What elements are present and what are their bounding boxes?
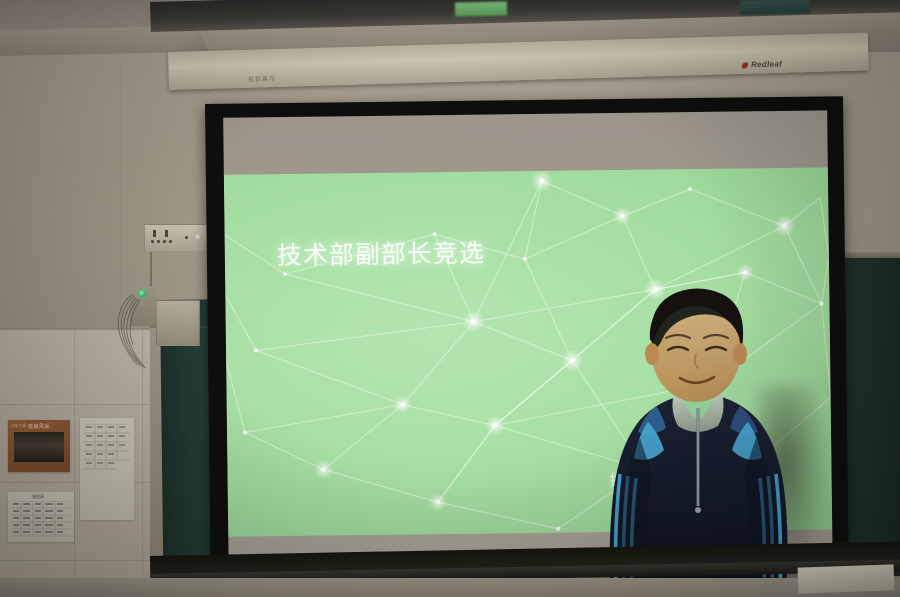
leaf-icon [742,62,748,68]
poster-photo-image [14,432,64,462]
poster-corner-label: 二年三班 [10,423,26,429]
switch-button[interactable] [165,230,168,237]
slide-title: 技术部副部长竞选 [277,234,485,273]
housing-label: 投影幕布 [248,74,276,84]
classroom-scene: 投影幕布 Redleaf [0,0,900,597]
switch-knob[interactable] [195,234,202,241]
wall-seam [142,330,143,597]
poster-title: 课程表 [32,494,44,500]
floor-strip [0,578,900,597]
switch-socket-dot [157,240,160,243]
screen-brand: Redleaf [742,59,782,69]
hanging-cables [110,290,180,370]
handwritten-chart-lines [84,424,130,494]
wall-seam [0,404,150,405]
switch-socket-dot [151,240,154,243]
poster-title: 班级风采 [28,423,50,430]
wall-poster-schedule[interactable]: 课程表 [8,492,74,542]
wall-poster-chart[interactable] [80,418,134,520]
switch-button[interactable] [153,230,156,237]
switch-socket-dot [185,236,188,239]
paper-stack[interactable] [798,564,895,593]
wall-poster-photo[interactable]: 二年三班 班级风采 [8,420,70,472]
brand-name: Redleaf [751,59,782,69]
wall-seam [0,560,150,561]
ceiling-light-reflection [455,1,507,16]
switch-socket-dot [163,240,166,243]
ceiling-light-fixture [740,0,810,15]
schedule-table-lines [11,501,71,539]
switch-socket-dot [169,240,172,243]
wall-seam [74,330,75,597]
